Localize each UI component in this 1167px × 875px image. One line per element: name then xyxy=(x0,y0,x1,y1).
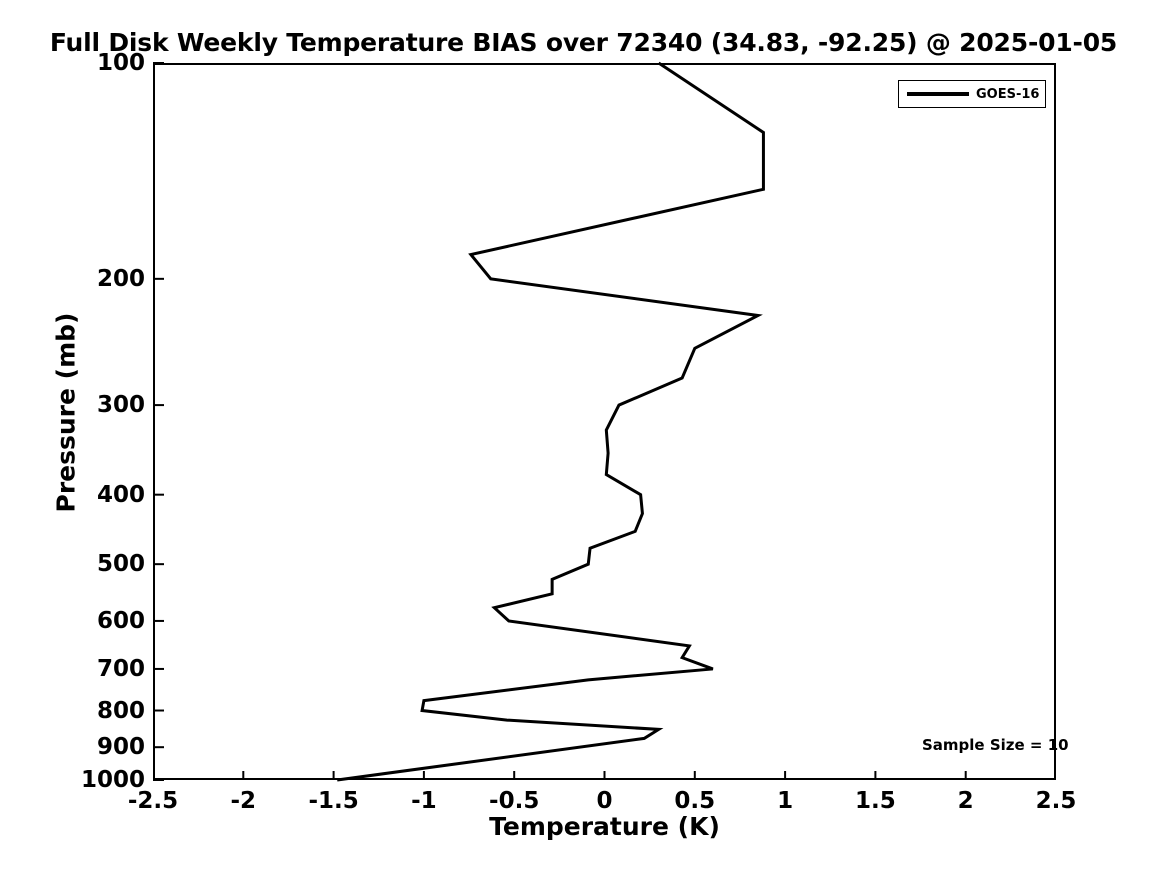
legend-label-goes-16: GOES-16 xyxy=(976,87,1039,102)
series-line-goes-16 xyxy=(337,63,763,780)
chart-title: Full Disk Weekly Temperature BIAS over 7… xyxy=(0,28,1167,57)
x-tick-label: 2 xyxy=(958,788,974,814)
figure: Full Disk Weekly Temperature BIAS over 7… xyxy=(0,0,1167,875)
legend[interactable]: GOES-16 xyxy=(898,80,1046,108)
y-tick-label: 500 xyxy=(97,551,145,577)
x-tick-label: 1 xyxy=(777,788,793,814)
y-axis-label: Pressure (mb) xyxy=(52,283,81,543)
chart-canvas xyxy=(153,63,1056,780)
x-tick-label: 0.5 xyxy=(674,788,715,814)
x-tick-label: -1.5 xyxy=(308,788,358,814)
x-tick-label: -2 xyxy=(231,788,257,814)
y-axis-tick-marks xyxy=(153,63,164,780)
x-tick-label: 1.5 xyxy=(855,788,896,814)
plot-area xyxy=(153,63,1056,780)
legend-line-swatch-goes-16 xyxy=(907,92,969,96)
y-tick-label: 800 xyxy=(97,698,145,724)
x-tick-label: -0.5 xyxy=(489,788,539,814)
x-tick-label: 0 xyxy=(596,788,612,814)
data-series-group xyxy=(337,63,763,780)
y-tick-label: 900 xyxy=(97,734,145,760)
sample-size-annotation: Sample Size = 10 xyxy=(922,736,1069,754)
y-tick-label: 700 xyxy=(97,656,145,682)
y-tick-label: 300 xyxy=(97,392,145,418)
y-tick-label: 400 xyxy=(97,482,145,508)
y-tick-label: 100 xyxy=(97,50,145,76)
y-tick-label: 600 xyxy=(97,608,145,634)
x-axis-label: Temperature (K) xyxy=(153,812,1056,841)
x-tick-label: 2.5 xyxy=(1036,788,1077,814)
y-tick-label: 1000 xyxy=(81,767,145,793)
y-tick-label: 200 xyxy=(97,266,145,292)
x-tick-label: -1 xyxy=(411,788,437,814)
